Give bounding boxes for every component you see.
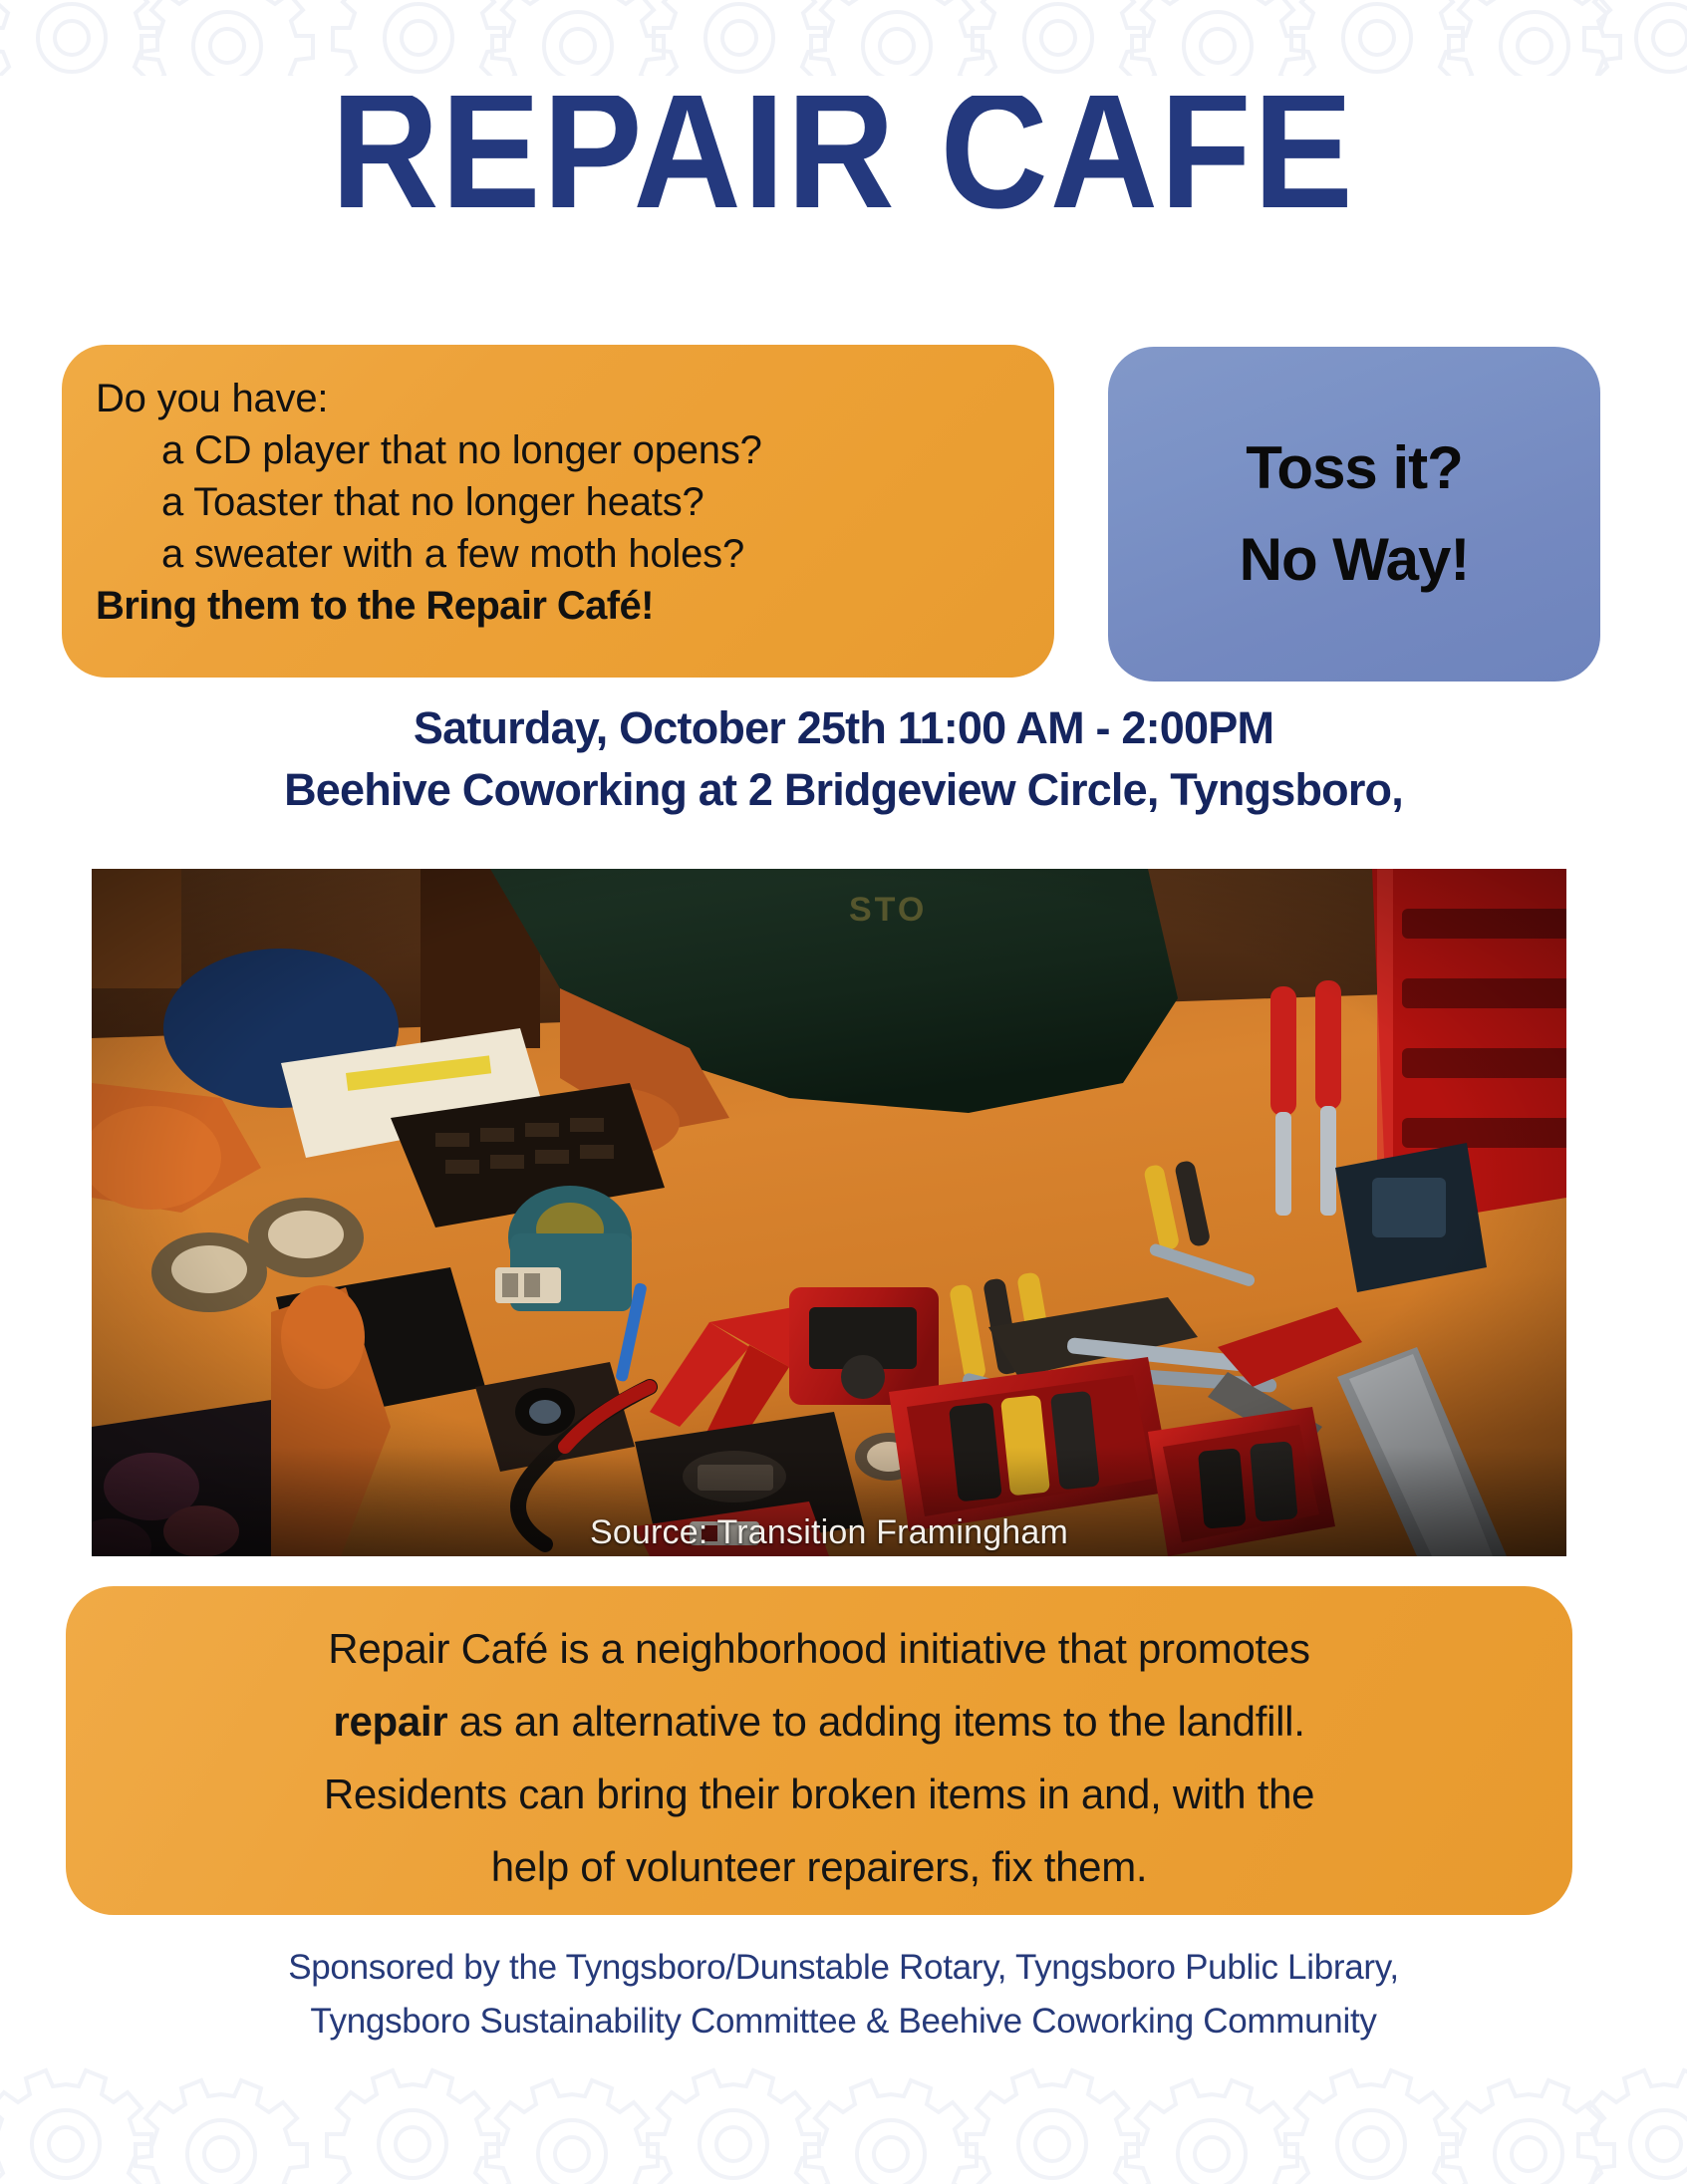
- event-details: Saturday, October 25th 11:00 AM - 2:00PM…: [0, 697, 1687, 821]
- sponsor-line-1: Sponsored by the Tyngsboro/Dunstable Rot…: [0, 1941, 1687, 1995]
- repair-event-photo: STO: [92, 869, 1566, 1556]
- event-location: Beehive Coworking at 2 Bridgeview Circle…: [0, 759, 1687, 821]
- description-box: Repair Café is a neighborhood initiative…: [66, 1586, 1572, 1915]
- sponsors: Sponsored by the Tyngsboro/Dunstable Rot…: [0, 1941, 1687, 2048]
- question-item-0: a CD player that no longer opens?: [96, 424, 1020, 476]
- photo-source-caption: Source: Transition Framingham: [92, 1513, 1566, 1552]
- sponsor-line-2: Tyngsboro Sustainability Committee & Bee…: [0, 1995, 1687, 2048]
- question-item-2: a sweater with a few moth holes?: [96, 528, 1020, 580]
- toss-line-2: No Way!: [1240, 514, 1470, 606]
- description-line-2-rest: as an alternative to adding items to the…: [447, 1698, 1304, 1745]
- page-title: REPAIR CAFE: [0, 96, 1687, 235]
- event-date-time: Saturday, October 25th 11:00 AM - 2:00PM: [0, 697, 1687, 759]
- description-line-4: help of volunteer repairers, fix them.: [106, 1830, 1533, 1903]
- description-line-1: Repair Café is a neighborhood initiative…: [106, 1612, 1533, 1685]
- question-box: Do you have: a CD player that no longer …: [62, 345, 1054, 678]
- question-call-to-action: Bring them to the Repair Café!: [96, 580, 1020, 632]
- question-item-1: a Toaster that no longer heats?: [96, 476, 1020, 528]
- question-lead: Do you have:: [96, 373, 1020, 424]
- gear-watermark-top: [0, 0, 1687, 76]
- description-line-2: repair as an alternative to adding items…: [106, 1685, 1533, 1758]
- description-emphasis: repair: [333, 1698, 447, 1745]
- gear-watermark-bottom: [0, 2039, 1687, 2184]
- repair-cafe-flyer: REPAIR CAFE Do you have: a CD player tha…: [0, 0, 1687, 2184]
- description-line-3: Residents can bring their broken items i…: [106, 1758, 1533, 1830]
- toss-it-box: Toss it? No Way!: [1108, 347, 1600, 682]
- toss-line-1: Toss it?: [1246, 422, 1463, 514]
- svg-text:REPAIR CAFE: REPAIR CAFE: [331, 96, 1355, 235]
